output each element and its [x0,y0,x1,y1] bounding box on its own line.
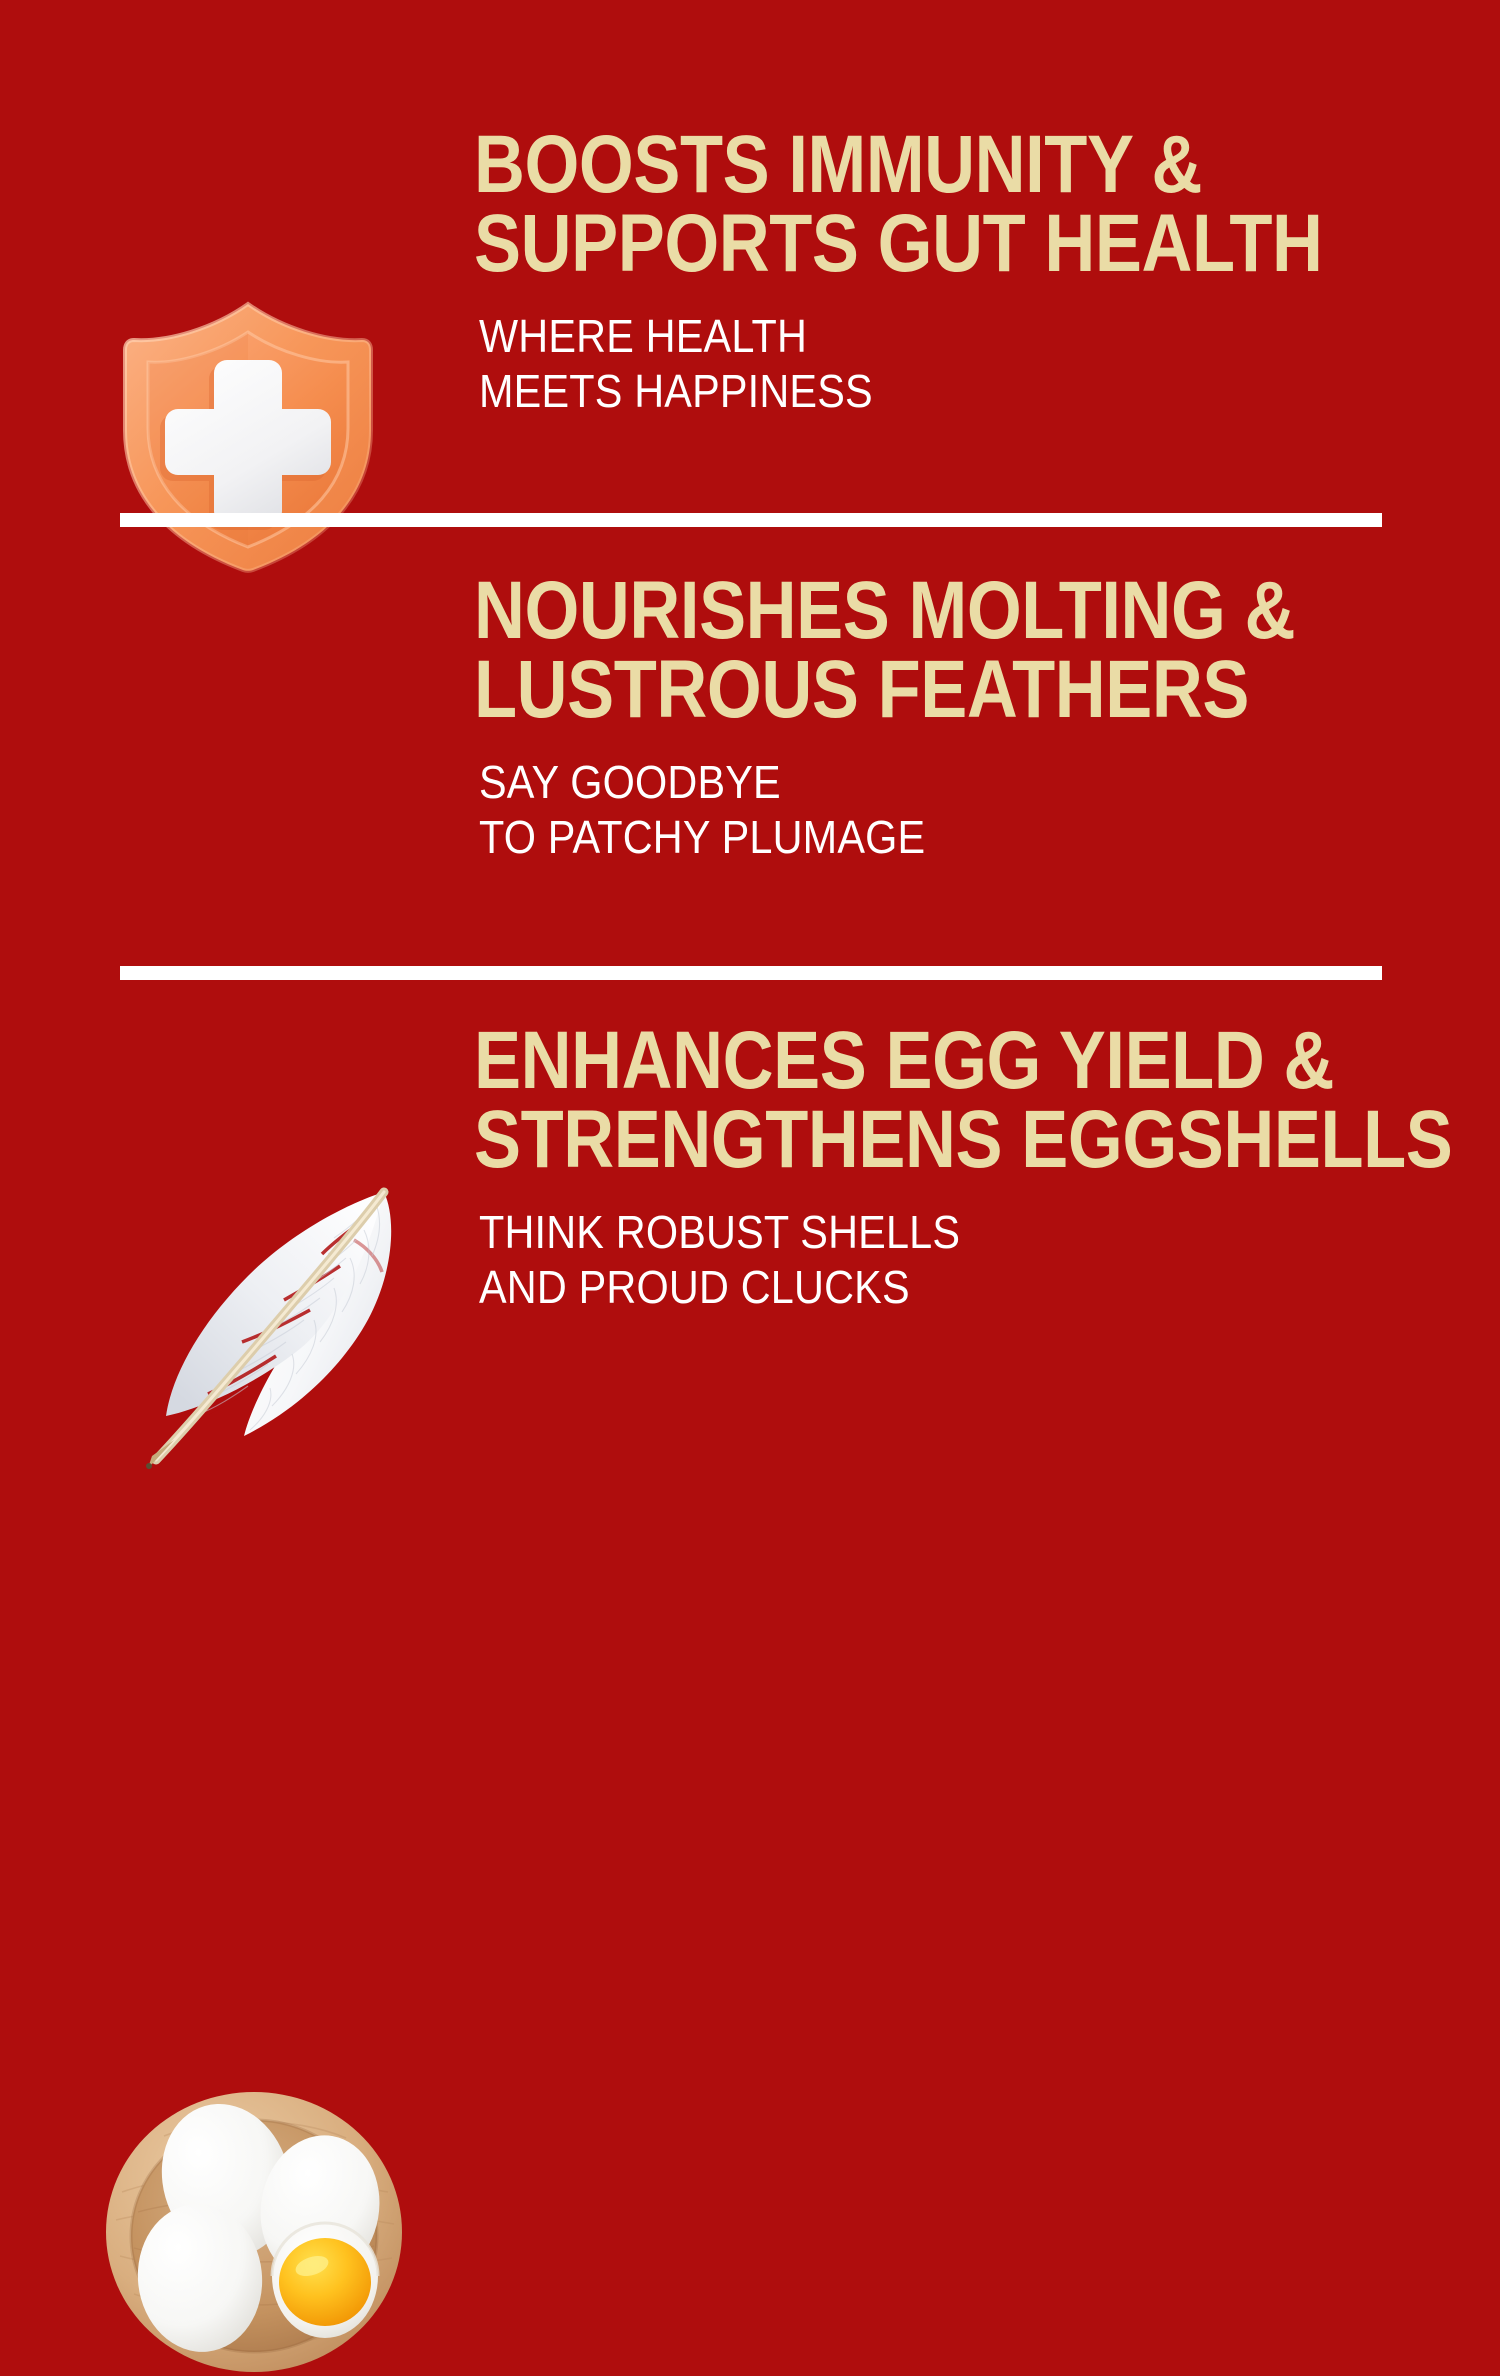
egg-yolk [279,2238,371,2326]
feature-3-subline: THINK ROBUST SHELLS AND PROUD CLUCKS [479,1205,1498,1314]
feather-quill-point [146,1463,152,1469]
egg-bowl-icon [104,2088,404,2376]
feature-3-headline-line2: STRENGTHENS EGGSHELLS [474,1101,1452,1180]
feature-1-headline: BOOSTS IMMUNITY & SUPPORTS GUT HEALTH [474,126,1356,283]
section-divider-2 [120,966,1382,980]
shield-plus-icon [122,298,374,576]
section-divider-1 [120,513,1382,527]
feature-row-feathers: NOURISHES MOLTING & LUSTROUS FEATHERS SA… [0,572,1500,864]
feature-2-subline: SAY GOODBYE TO PATCHY PLUMAGE [479,755,1398,864]
feature-2-subline-line1: SAY GOODBYE [479,755,1398,809]
egg-bowl-icon-svg [104,2088,404,2376]
feature-3-subline-line1: THINK ROBUST SHELLS [479,1205,1498,1259]
feature-row-immunity: BOOSTS IMMUNITY & SUPPORTS GUT HEALTH WH… [0,126,1500,418]
feature-3-headline: ENHANCES EGG YIELD & STRENGTHENS EGGSHEL… [474,1022,1452,1179]
promo-banner: BOOSTS IMMUNITY & SUPPORTS GUT HEALTH WH… [0,0,1500,1500]
feature-2-headline-line2: LUSTROUS FEATHERS [474,651,1356,730]
feature-row-eggs: ENHANCES EGG YIELD & STRENGTHENS EGGSHEL… [0,1022,1500,1314]
feature-2-headline-line1: NOURISHES MOLTING & [474,572,1356,651]
feature-2-headline: NOURISHES MOLTING & LUSTROUS FEATHERS [474,572,1356,729]
feature-3-headline-line1: ENHANCES EGG YIELD & [474,1022,1452,1101]
feature-2-text-slot: NOURISHES MOLTING & LUSTROUS FEATHERS SA… [474,572,1500,864]
feature-1-text-slot: BOOSTS IMMUNITY & SUPPORTS GUT HEALTH WH… [474,126,1500,418]
feature-3-subline-line2: AND PROUD CLUCKS [479,1260,1498,1314]
shield-plus-icon-svg [122,298,374,576]
feature-3-text-slot: ENHANCES EGG YIELD & STRENGTHENS EGGSHEL… [474,1022,1500,1314]
feature-1-headline-line2: SUPPORTS GUT HEALTH [474,205,1356,284]
feature-1-headline-line1: BOOSTS IMMUNITY & [474,126,1356,205]
feature-2-subline-line2: TO PATCHY PLUMAGE [479,810,1398,864]
feature-1-subline-line1: WHERE HEALTH [479,309,1398,363]
feature-1-subline: WHERE HEALTH MEETS HAPPINESS [479,309,1398,418]
feather-quill-tip [148,1440,174,1468]
feature-1-subline-line2: MEETS HAPPINESS [479,364,1398,418]
